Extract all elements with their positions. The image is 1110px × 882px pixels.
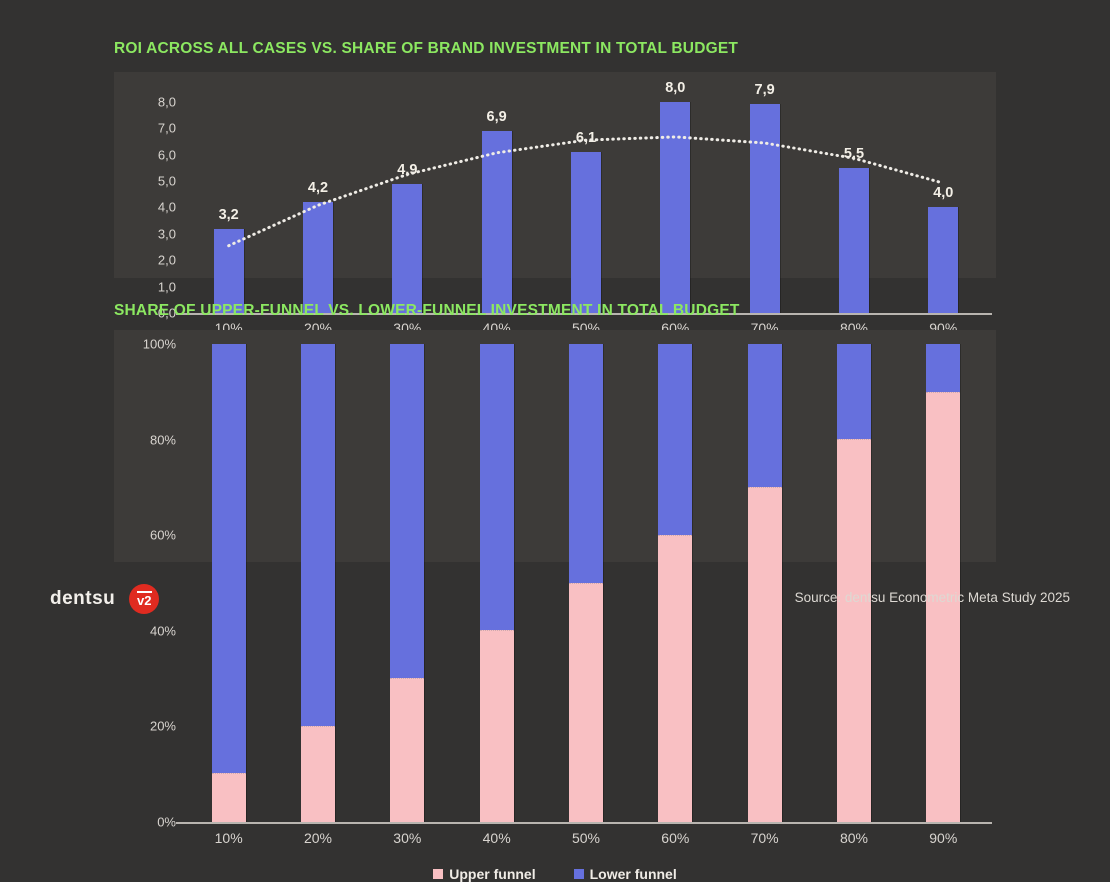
chart2-legend-item[interactable]: Upper funnel — [433, 866, 535, 882]
chart1-bar[interactable]: 4,2 — [303, 202, 333, 313]
chart2-segment-upper-funnel[interactable] — [480, 630, 514, 822]
chart2-bar-slot — [273, 344, 362, 822]
brand-wordmark: dentsu — [50, 588, 115, 610]
chart1-bar-slot: 8,0 — [631, 86, 720, 313]
chart1-bar[interactable]: 7,9 — [750, 104, 780, 313]
chart2-segment-lower-funnel[interactable] — [748, 344, 782, 487]
chart2-segment-upper-funnel[interactable] — [301, 726, 335, 822]
chart1-bar-value-label: 6,9 — [487, 109, 507, 125]
chart2-segment-upper-funnel[interactable] — [926, 392, 960, 822]
chart2-plot-area — [184, 344, 988, 822]
chart2-bar-slot — [631, 344, 720, 822]
chart2-y-tick: 40% — [150, 623, 176, 638]
chart2-y-tick: 20% — [150, 719, 176, 734]
chart2-y-tick: 60% — [150, 528, 176, 543]
chart2-stacked-bar[interactable] — [390, 344, 424, 822]
chart1-y-tick: 1,0 — [158, 279, 176, 294]
chart2-stacked-bar[interactable] — [212, 344, 246, 822]
chart2-segment-lower-funnel[interactable] — [390, 344, 424, 678]
chart2-legend-swatch-icon — [433, 869, 443, 879]
chart2-stacked-bar[interactable] — [748, 344, 782, 822]
chart2-segment-lower-funnel[interactable] — [658, 344, 692, 535]
chart1-y-tick: 6,0 — [158, 147, 176, 162]
chart2-y-tick: 0% — [157, 815, 176, 830]
chart2-segment-lower-funnel[interactable] — [569, 344, 603, 583]
chart1-bar[interactable]: 5,5 — [839, 168, 869, 313]
chart1-y-tick: 8,0 — [158, 94, 176, 109]
chart1-bar-value-label: 8,0 — [665, 80, 685, 96]
chart2-segment-upper-funnel[interactable] — [748, 487, 782, 822]
chart2-x-tick: 30% — [363, 830, 452, 846]
chart2-x-tick: 20% — [273, 830, 362, 846]
chart2-x-axis: 10%20%30%40%50%60%70%80%90% — [184, 830, 988, 846]
chart2-y-tick: 100% — [143, 337, 176, 352]
chart2-y-tick: 80% — [150, 432, 176, 447]
chart2-legend-label: Upper funnel — [449, 866, 535, 882]
chart1-bar[interactable]: 4,0 — [928, 207, 958, 313]
chart1-bar-slot: 4,9 — [363, 86, 452, 313]
chart1-bar[interactable]: 3,2 — [214, 229, 244, 313]
chart2-x-tick: 70% — [720, 830, 809, 846]
chart2-title: SHARE OF UPPER-FUNNEL VS. LOWER-FUNNEL I… — [114, 302, 740, 320]
chart2-legend-label: Lower funnel — [590, 866, 677, 882]
chart2-bar-slot — [809, 344, 898, 822]
chart2-legend-swatch-icon — [574, 869, 584, 879]
chart2-segment-lower-funnel[interactable] — [301, 344, 335, 726]
chart2-segment-lower-funnel[interactable] — [837, 344, 871, 439]
chart2-stacked-bar[interactable] — [837, 344, 871, 822]
chart2-stacked-bar[interactable] — [569, 344, 603, 822]
chart1-y-tick: 5,0 — [158, 174, 176, 189]
v2-badge-icon: v2 — [129, 584, 159, 614]
chart2-x-tick: 10% — [184, 830, 273, 846]
v2-badge-label: v2 — [137, 591, 151, 607]
chart2-legend-item[interactable]: Lower funnel — [574, 866, 677, 882]
chart1-title: ROI ACROSS ALL CASES VS. SHARE OF BRAND … — [114, 40, 738, 58]
chart2-segment-upper-funnel[interactable] — [658, 535, 692, 822]
chart2-stacked-bar[interactable] — [658, 344, 692, 822]
chart2-x-tick: 90% — [899, 830, 988, 846]
chart1-bar-value-label: 7,9 — [755, 82, 775, 98]
chart2-panel: 100%80%60%40%20%0% 10%20%30%40%50%60%70%… — [114, 330, 996, 562]
chart1-bar-value-label: 4,9 — [397, 162, 417, 178]
chart2-bar-slot — [541, 344, 630, 822]
chart2-segment-lower-funnel[interactable] — [212, 344, 246, 773]
chart1-bar[interactable]: 6,9 — [482, 131, 512, 313]
chart1-plot-area: 3,24,24,96,96,18,07,95,54,0 — [184, 86, 988, 313]
chart1-panel: 8,07,06,05,04,03,02,01,00,0 3,24,24,96,9… — [114, 72, 996, 278]
chart1-y-tick: 2,0 — [158, 253, 176, 268]
chart1-y-tick: 7,0 — [158, 121, 176, 136]
chart2-segment-lower-funnel[interactable] — [926, 344, 960, 392]
chart1-bar-slot: 7,9 — [720, 86, 809, 313]
chart1-y-tick: 3,0 — [158, 226, 176, 241]
chart1-bar-slot: 6,1 — [541, 86, 630, 313]
chart2-x-tick: 50% — [541, 830, 630, 846]
chart2-segment-upper-funnel[interactable] — [837, 439, 871, 822]
chart1-bar-value-label: 5,5 — [844, 146, 864, 162]
chart1-bar-slot: 3,2 — [184, 86, 273, 313]
slide-canvas: ROI ACROSS ALL CASES VS. SHARE OF BRAND … — [0, 0, 1110, 624]
chart2-bar-slot — [184, 344, 273, 822]
dentsu-logo: dentsu v2 — [50, 584, 159, 614]
chart2-stacked-bar[interactable] — [480, 344, 514, 822]
chart1-bar[interactable]: 4,9 — [392, 184, 422, 313]
chart1-bar[interactable]: 8,0 — [660, 102, 690, 313]
chart1-bar-value-label: 4,0 — [933, 185, 953, 201]
chart2-x-tick: 80% — [809, 830, 898, 846]
chart1-bar-slot: 4,2 — [273, 86, 362, 313]
chart1-bar-value-label: 4,2 — [308, 180, 328, 196]
chart2-segment-lower-funnel[interactable] — [480, 344, 514, 630]
chart2-baseline — [176, 822, 992, 824]
chart2-stacked-bar[interactable] — [926, 344, 960, 822]
chart2-x-tick: 60% — [631, 830, 720, 846]
source-note: Source: dentsu Econometric Meta Study 20… — [795, 590, 1070, 605]
chart2-stacked-bar[interactable] — [301, 344, 335, 822]
chart2-bar-slot — [363, 344, 452, 822]
chart2-segment-upper-funnel[interactable] — [212, 773, 246, 822]
chart2-x-tick: 40% — [452, 830, 541, 846]
chart2-y-axis: 100%80%60%40%20%0% — [114, 330, 176, 562]
chart2-segment-upper-funnel[interactable] — [569, 583, 603, 823]
chart2-bar-slot — [720, 344, 809, 822]
chart2-bar-slot — [899, 344, 988, 822]
chart1-bar[interactable]: 6,1 — [571, 152, 601, 313]
chart1-bar-slot: 6,9 — [452, 86, 541, 313]
chart1-bar-slot: 4,0 — [899, 86, 988, 313]
chart2-legend: Upper funnelLower funnel — [114, 866, 996, 882]
chart1-y-tick: 4,0 — [158, 200, 176, 215]
chart2-bar-slot — [452, 344, 541, 822]
chart2-segment-upper-funnel[interactable] — [390, 678, 424, 822]
chart1-bar-value-label: 3,2 — [219, 207, 239, 223]
chart1-bar-slot: 5,5 — [809, 86, 898, 313]
chart1-y-axis: 8,07,06,05,04,03,02,01,00,0 — [114, 72, 176, 278]
chart1-bar-value-label: 6,1 — [576, 130, 596, 146]
